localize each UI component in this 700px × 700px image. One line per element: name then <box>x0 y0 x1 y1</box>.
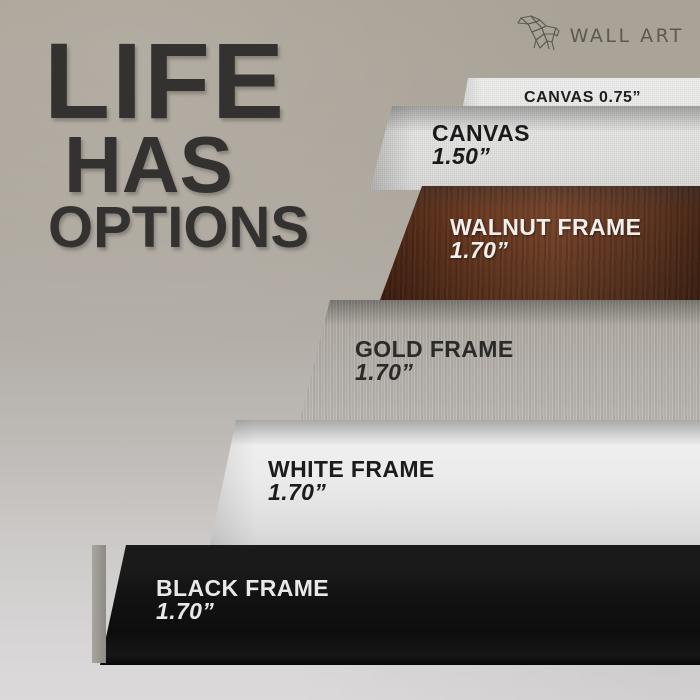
black-frame-label-line2: 1.70” <box>156 600 329 623</box>
walnut-label-line2: 1.70” <box>450 239 641 262</box>
product-options-poster: CANVAS 0.75” CANVAS 1.50” WALNUT FRAME 1… <box>0 0 700 700</box>
option-layer-gold-frame[interactable]: GOLD FRAME 1.70” <box>300 300 700 420</box>
headline: LIFE HAS OPTIONS <box>44 36 309 253</box>
option-layer-walnut-frame[interactable]: WALNUT FRAME 1.70” <box>380 186 700 300</box>
headline-line-1: LIFE <box>44 36 309 127</box>
canvas-075-label: CANVAS 0.75” <box>524 90 641 106</box>
white-frame-label: WHITE FRAME 1.70” <box>268 458 435 505</box>
white-frame-label-line1: WHITE FRAME <box>268 458 435 481</box>
option-layer-black-frame[interactable]: BLACK FRAME 1.70” <box>100 545 700 665</box>
white-frame-edge-shadow <box>210 420 256 545</box>
canvas-075-label-line1: CANVAS 0.75” <box>524 90 641 106</box>
canvas-150-texture <box>370 106 700 190</box>
canvas-150-label-line2: 1.50” <box>432 145 530 168</box>
black-frame-label-line1: BLACK FRAME <box>156 577 329 600</box>
gold-label-line1: GOLD FRAME <box>355 338 514 361</box>
headline-line-3: OPTIONS <box>48 204 309 253</box>
black-frame-side-ledge <box>92 545 106 663</box>
walnut-label: WALNUT FRAME 1.70” <box>450 216 641 263</box>
brand-logo[interactable]: WALL ART <box>516 14 684 57</box>
canvas-150-edge-shadow <box>370 106 414 190</box>
gold-label: GOLD FRAME 1.70” <box>355 338 514 385</box>
origami-goat-icon <box>516 14 562 57</box>
option-layer-canvas-150[interactable]: CANVAS 1.50” <box>370 106 700 190</box>
black-frame-label: BLACK FRAME 1.70” <box>156 577 329 624</box>
white-frame-label-line2: 1.70” <box>268 481 435 504</box>
walnut-label-line1: WALNUT FRAME <box>450 216 641 239</box>
gold-label-line2: 1.70” <box>355 361 514 384</box>
option-layer-white-frame[interactable]: WHITE FRAME 1.70” <box>210 420 700 545</box>
brand-wordmark: WALL ART <box>570 25 684 47</box>
canvas-150-label: CANVAS 1.50” <box>432 122 530 169</box>
canvas-150-label-line1: CANVAS <box>432 122 530 145</box>
